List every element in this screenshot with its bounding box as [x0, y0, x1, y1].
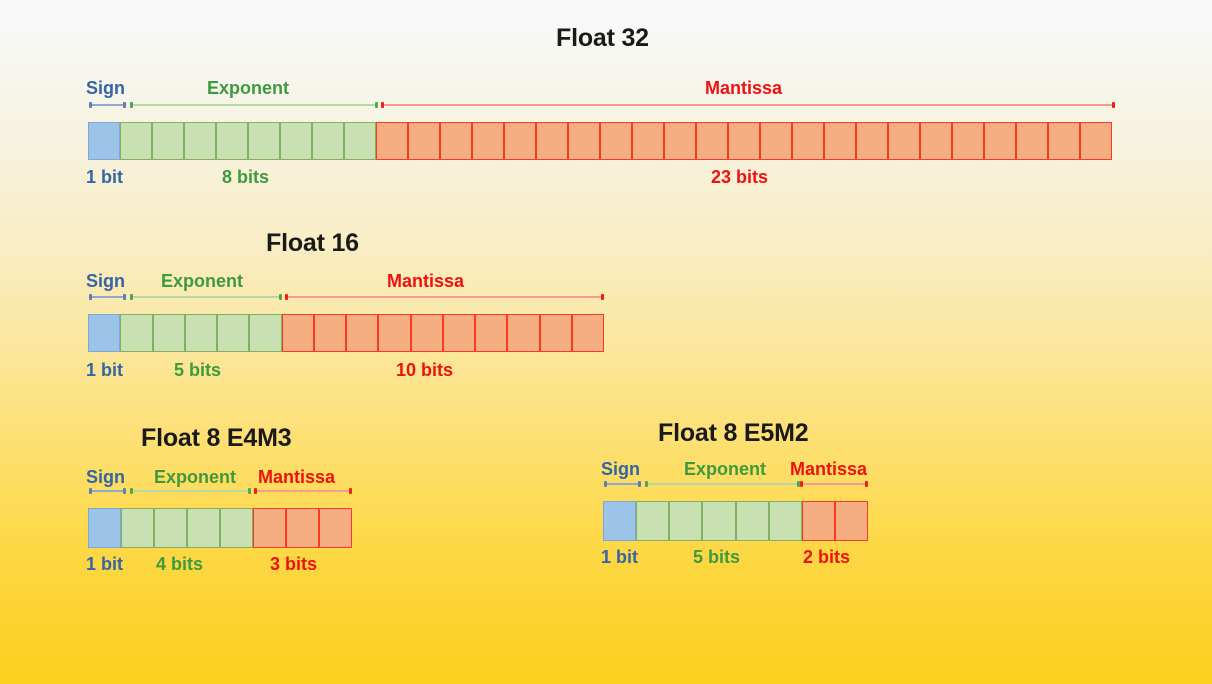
- bit-cell-exp: [280, 122, 312, 160]
- float8-e5m2-bit-bar: [603, 501, 868, 541]
- float32-mantissa-label: Mantissa: [705, 78, 782, 99]
- float8-e4m3-sign-label: Sign: [86, 467, 125, 488]
- bit-cell-man: [411, 314, 443, 352]
- float8-e5m2-exponent-span-rule: [645, 483, 800, 485]
- float16-mantissa-bits-label: 10 bits: [396, 360, 453, 381]
- bit-cell-man: [888, 122, 920, 160]
- float16-bit-bar: [88, 314, 604, 352]
- bit-cell-exp: [669, 501, 702, 541]
- float8-e4m3-bit-bar: [88, 508, 352, 548]
- float8-e4m3-mantissa-span-rule: [254, 490, 352, 492]
- bit-cell-man: [536, 122, 568, 160]
- bit-cell-exp: [248, 122, 280, 160]
- float32-sign-bits-label: 1 bit: [86, 167, 123, 188]
- float16-sign-bits-label: 1 bit: [86, 360, 123, 381]
- float16-sign-label: Sign: [86, 271, 125, 292]
- float8-e4m3-mantissa-bits-label: 3 bits: [270, 554, 317, 575]
- bit-cell-man: [835, 501, 868, 541]
- float8-e5m2-exponent-bits-label: 5 bits: [693, 547, 740, 568]
- bit-cell-exp: [153, 314, 185, 352]
- float16-exponent-span-rule: [130, 296, 282, 298]
- bit-cell-exp: [120, 122, 152, 160]
- bit-cell-man: [319, 508, 352, 548]
- bit-cell-man: [1048, 122, 1080, 160]
- bit-cell-exp: [185, 314, 217, 352]
- float16-mantissa-span-rule: [285, 296, 604, 298]
- bit-cell-sign: [88, 314, 120, 352]
- bit-cell-exp: [216, 122, 248, 160]
- float32-mantissa-bits-label: 23 bits: [711, 167, 768, 188]
- float8-e4m3-sign-bits-label: 1 bit: [86, 554, 123, 575]
- float8-e4m3-exponent-bits-label: 4 bits: [156, 554, 203, 575]
- bit-cell-exp: [120, 314, 152, 352]
- float32-sign-label: Sign: [86, 78, 125, 99]
- bit-cell-exp: [702, 501, 735, 541]
- bit-cell-man: [376, 122, 408, 160]
- float8-e5m2-mantissa-span-rule: [800, 483, 868, 485]
- bit-cell-man: [664, 122, 696, 160]
- float32-bit-bar: [88, 122, 1112, 160]
- bit-cell-exp: [152, 122, 184, 160]
- float32-exponent-span-rule: [130, 104, 378, 106]
- bit-cell-man: [408, 122, 440, 160]
- bit-cell-exp: [249, 314, 281, 352]
- float16-sign-span-rule: [89, 296, 126, 298]
- float32-title: Float 32: [556, 24, 649, 53]
- bit-cell-man: [282, 314, 314, 352]
- bit-cell-man: [346, 314, 378, 352]
- float32-exponent-label: Exponent: [207, 78, 289, 99]
- bit-cell-man: [1080, 122, 1112, 160]
- float8-e4m3-mantissa-label: Mantissa: [258, 467, 335, 488]
- bit-cell-man: [504, 122, 536, 160]
- bit-cell-man: [632, 122, 664, 160]
- float16-mantissa-label: Mantissa: [387, 271, 464, 292]
- bit-cell-sign: [88, 508, 121, 548]
- float8-e5m2-exponent-label: Exponent: [684, 459, 766, 480]
- bit-cell-exp: [187, 508, 220, 548]
- bit-cell-sign: [88, 122, 120, 160]
- bit-cell-man: [314, 314, 346, 352]
- float8-e4m3-title: Float 8 E4M3: [141, 424, 291, 453]
- float16-title: Float 16: [266, 229, 359, 258]
- bit-cell-man: [443, 314, 475, 352]
- bit-cell-man: [856, 122, 888, 160]
- float8-e4m3-sign-span-rule: [89, 490, 126, 492]
- bit-cell-man: [696, 122, 728, 160]
- bit-cell-man: [920, 122, 952, 160]
- bit-cell-man: [286, 508, 319, 548]
- float8-e5m2-sign-bits-label: 1 bit: [601, 547, 638, 568]
- float8-e5m2-sign-span-rule: [604, 483, 641, 485]
- bit-cell-man: [572, 314, 604, 352]
- float8-e5m2-mantissa-label: Mantissa: [790, 459, 867, 480]
- bit-cell-man: [440, 122, 472, 160]
- bit-cell-exp: [121, 508, 154, 548]
- bit-cell-man: [472, 122, 504, 160]
- bit-cell-exp: [154, 508, 187, 548]
- float16-exponent-label: Exponent: [161, 271, 243, 292]
- float8-e4m3-exponent-span-rule: [130, 490, 251, 492]
- bit-cell-man: [802, 501, 835, 541]
- bit-cell-man: [1016, 122, 1048, 160]
- float8-e5m2-mantissa-bits-label: 2 bits: [803, 547, 850, 568]
- bit-cell-man: [540, 314, 572, 352]
- diagram-canvas: Float 32 Sign Exponent Mantissa 1 bit 8 …: [0, 0, 1212, 684]
- bit-cell-exp: [220, 508, 253, 548]
- bit-cell-exp: [184, 122, 216, 160]
- float8-e5m2-title: Float 8 E5M2: [658, 419, 808, 448]
- bit-cell-exp: [736, 501, 769, 541]
- float32-mantissa-span-rule: [381, 104, 1115, 106]
- bit-cell-man: [952, 122, 984, 160]
- float8-e4m3-exponent-label: Exponent: [154, 467, 236, 488]
- float32-exponent-bits-label: 8 bits: [222, 167, 269, 188]
- float16-exponent-bits-label: 5 bits: [174, 360, 221, 381]
- bit-cell-sign: [603, 501, 636, 541]
- bit-cell-man: [253, 508, 286, 548]
- bit-cell-man: [475, 314, 507, 352]
- float32-sign-span-rule: [89, 104, 126, 106]
- bit-cell-man: [568, 122, 600, 160]
- bit-cell-man: [378, 314, 410, 352]
- float8-e5m2-sign-label: Sign: [601, 459, 640, 480]
- bit-cell-exp: [769, 501, 802, 541]
- bit-cell-man: [507, 314, 539, 352]
- bit-cell-exp: [312, 122, 344, 160]
- bit-cell-man: [824, 122, 856, 160]
- bit-cell-man: [984, 122, 1016, 160]
- bit-cell-exp: [217, 314, 249, 352]
- bit-cell-man: [792, 122, 824, 160]
- bit-cell-exp: [636, 501, 669, 541]
- bit-cell-man: [728, 122, 760, 160]
- bit-cell-exp: [344, 122, 376, 160]
- bit-cell-man: [600, 122, 632, 160]
- bit-cell-man: [760, 122, 792, 160]
